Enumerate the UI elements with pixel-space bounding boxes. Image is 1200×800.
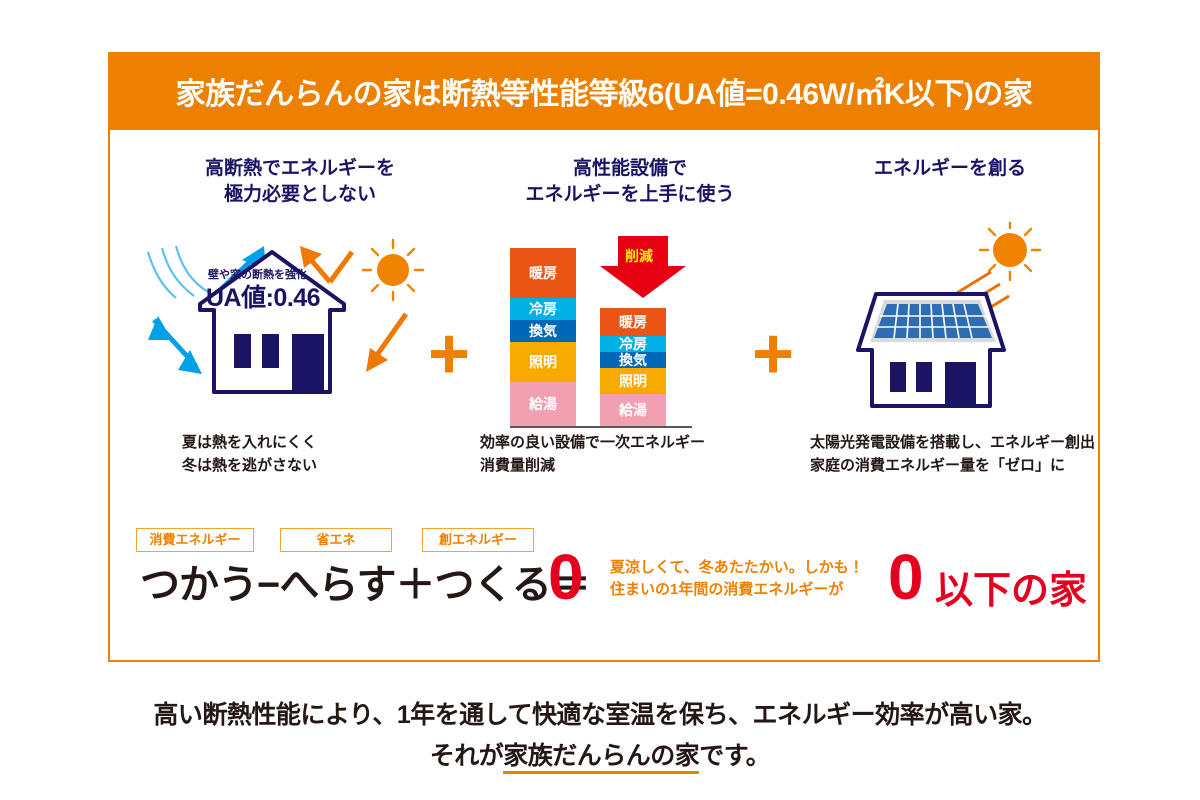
column-caption-generation: 太陽光発電設備を搭載し、エネルギー創出 家庭の消費エネルギー量を「ゼロ」に [810,432,1095,477]
bar-segment-暖房: 暖房 [600,308,666,336]
footer-summary: 高い断熱性能により、1年を通して快適な室温を保ち、エネルギー効率が高い家。 それ… [0,695,1200,778]
final-zero: 0 [888,545,924,609]
sun-icon [363,240,423,300]
footer-brand-highlight: 家族だんらんの家 [503,742,699,774]
tag-consumed-energy: 消費エネルギー [136,528,254,552]
column-caption-generation-line2: 家庭の消費エネルギー量を「ゼロ」に [810,455,1095,478]
column-title-insulation-line2: 極力必要としない [150,182,450,208]
bar-segment-換気: 換気 [510,320,576,342]
equation-result-zero: 0 [548,545,584,609]
house-ua-value: UA値:0.46 [206,278,320,314]
equation-formula: つかう−へらす＋つくる＝ [140,552,590,610]
equation-note-line1: 夏涼しくて、冬あたたかい。しかも！ [610,557,864,579]
insulated-house-svg [140,224,470,424]
cold-arrow-down-head-a [148,316,172,340]
header-title: 家族だんらんの家は断熱等性能等級6(UA値=0.46W/㎡K以下)の家 [176,69,1033,113]
column-title-generation: エネルギーを創る [810,156,1090,182]
solar-house-svg [828,222,1088,422]
reduction-label: 削減 [625,246,653,266]
column-caption-equipment-line2: 消費量削減 [480,455,705,478]
column-caption-insulation-line2: 冬は熱を逃がさない [182,455,317,478]
equation-note-line2: 住まいの1年間の消費エネルギーが [610,579,864,601]
column-title-equipment: 高性能設備で エネルギーを上手に使う [480,156,780,207]
tag-created-energy: 創エネルギー [422,528,534,552]
bar-segment-冷房: 冷房 [510,298,576,320]
equation-note: 夏涼しくて、冬あたたかい。しかも！ 住まいの1年間の消費エネルギーが [610,557,864,601]
solar-sun-icon [980,222,1040,280]
column-caption-equipment: 効率の良い設備で一次エネルギー 消費量削減 [480,432,705,477]
solar-house-illustration [828,222,1088,422]
column-title-insulation-line1: 高断熱でエネルギーを [150,156,450,182]
final-zero-suffix: 以下の家 [935,559,1087,614]
column-title-insulation: 高断熱でエネルギーを 極力必要としない [150,156,450,207]
column-caption-equipment-line1: 効率の良い設備で一次エネルギー [480,432,705,455]
bar-segment-照明: 照明 [600,368,666,394]
bar-segment-換気: 換気 [600,352,666,368]
solar-house-shape [858,294,1004,406]
column-caption-insulation-line1: 夏は熱を入れにくく [182,432,317,455]
header-band: 家族だんらんの家は断熱等性能等級6(UA値=0.46W/㎡K以下)の家 [108,52,1100,130]
bar-segment-給湯: 給湯 [510,382,576,426]
bar-segment-給湯: 給湯 [600,394,666,426]
column-title-generation-line1: エネルギーを創る [810,156,1090,182]
bar-segment-照明: 照明 [510,342,576,382]
column-title-equipment-line2: エネルギーを上手に使う [480,182,780,208]
heat-arrow-up-head [300,246,322,268]
footer-line2-prefix: それが [430,742,504,770]
bar-segment-暖房: 暖房 [510,248,576,298]
column-caption-generation-line1: 太陽光発電設備を搭載し、エネルギー創出 [810,432,1095,455]
plus-separator-1: + [428,318,470,390]
footer-line1: 高い断熱性能により、1年を通して快適な室温を保ち、エネルギー効率が高い家。 [0,695,1200,736]
chart-baseline [510,426,692,428]
column-caption-insulation: 夏は熱を入れにくく 冬は熱を逃がさない [182,432,317,477]
footer-line2-suffix: です。 [699,742,770,770]
footer-line2: それが家族だんらんの家です。 [0,736,1200,777]
column-title-equipment-line1: 高性能設備で [480,156,780,182]
cold-wave-lines [148,246,208,298]
tag-energy-saving: 省エネ [280,528,392,552]
plus-separator-2: + [752,318,794,390]
insulated-house-illustration [140,224,470,424]
